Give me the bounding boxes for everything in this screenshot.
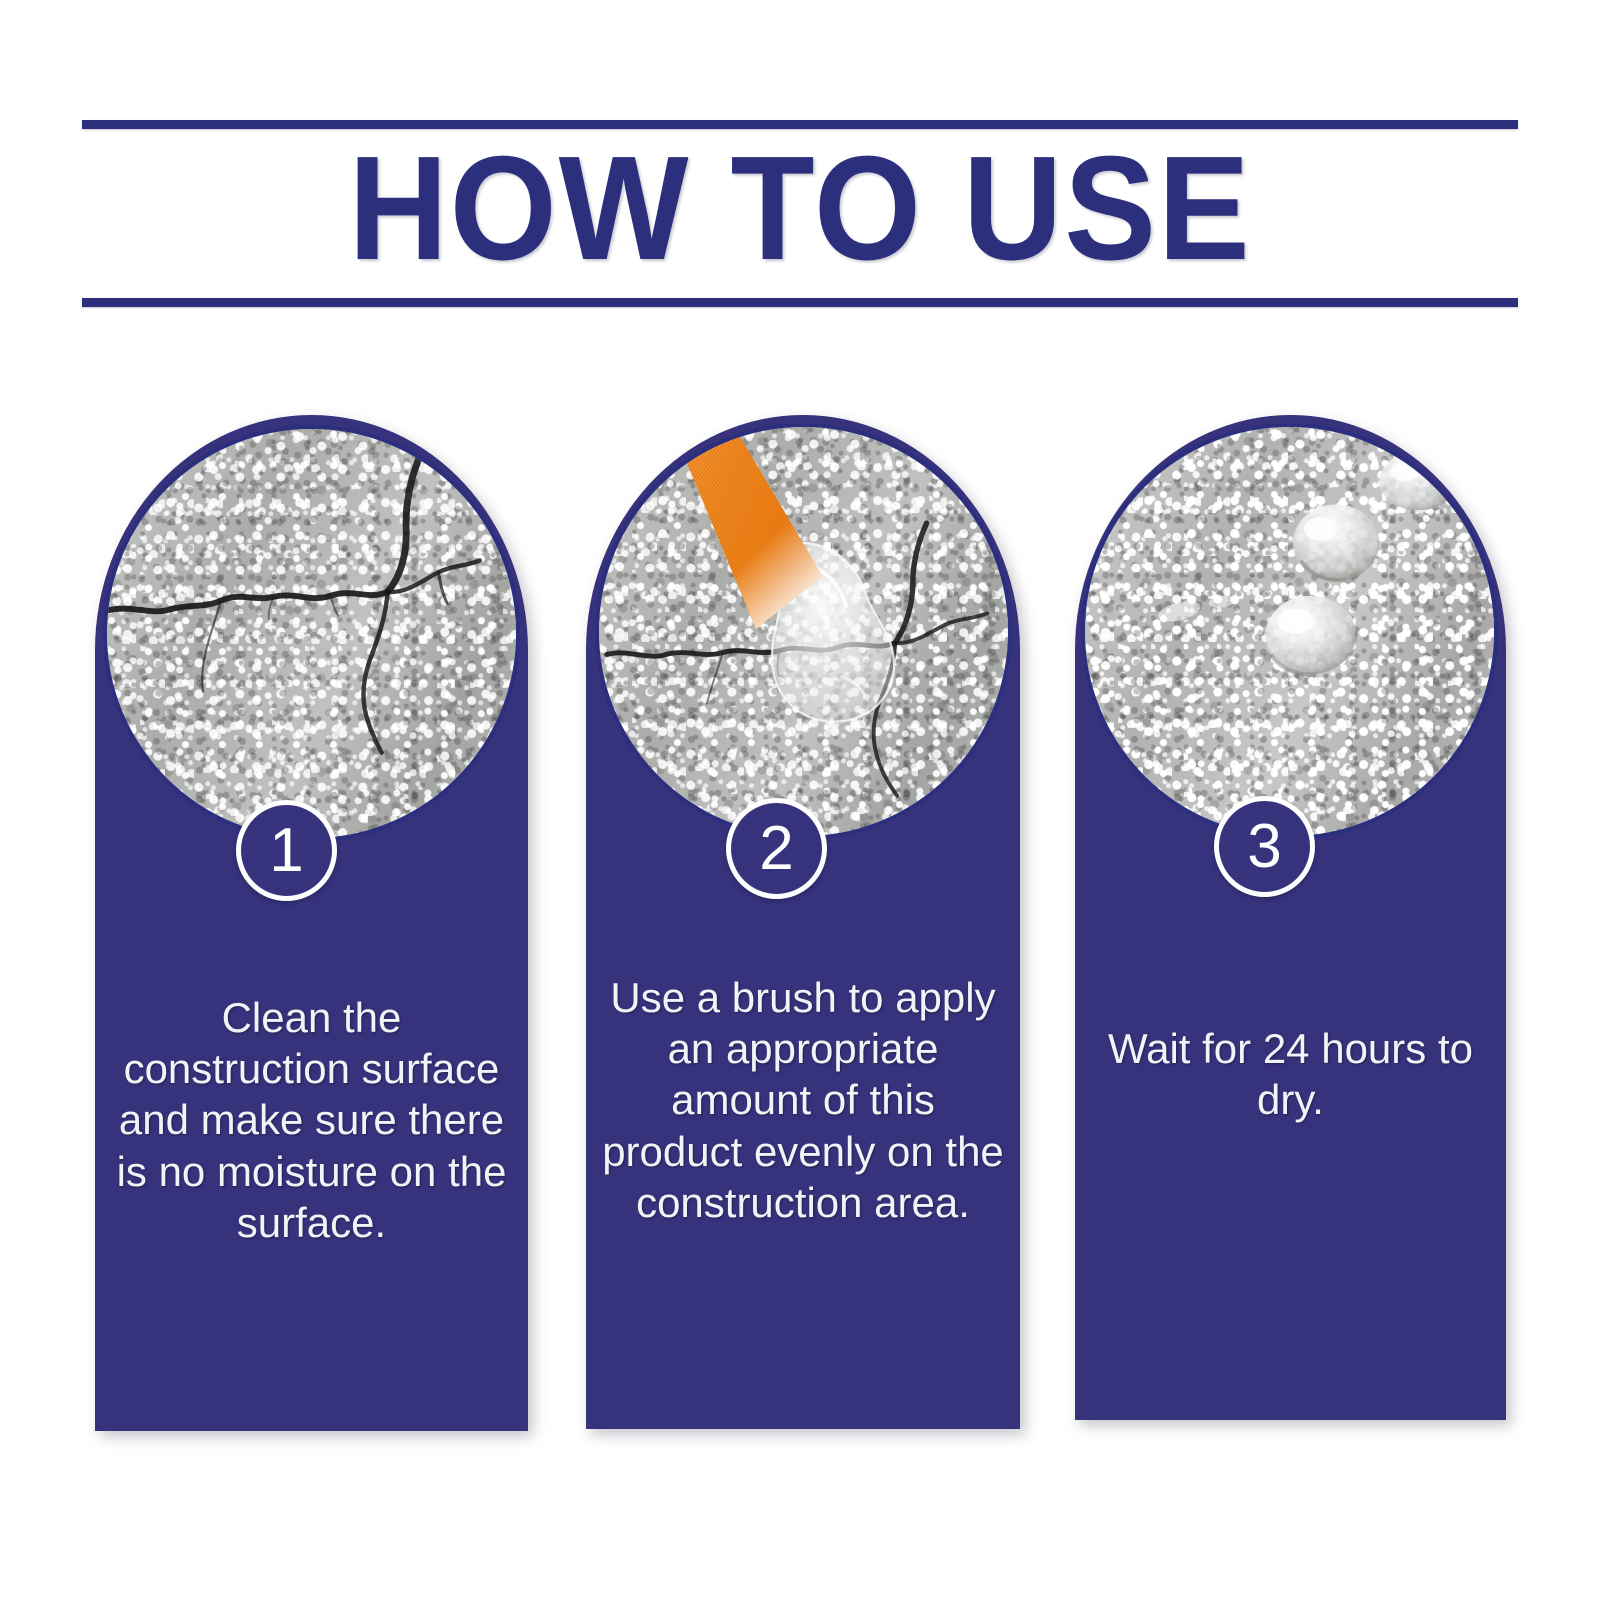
step-1-photo: [103, 425, 520, 842]
step-1-number-badge: 1: [236, 800, 337, 901]
cracked-surface-icon: [107, 429, 516, 838]
step-card-1: 1 Clean the construction surface and mak…: [95, 415, 528, 1431]
step-3-caption: Wait for 24 hours to dry.: [1075, 1023, 1506, 1125]
step-3-photo: [1081, 423, 1498, 840]
step-2-number-badge: 2: [726, 798, 827, 899]
step-card-3: 3 Wait for 24 hours to dry.: [1075, 415, 1506, 1420]
step-card-2: 2 Use a brush to apply an appropriate am…: [586, 415, 1020, 1429]
cracked-surface-icon: [599, 427, 1008, 836]
step-2-caption: Use a brush to apply an appropriate amou…: [586, 972, 1020, 1228]
step-1-caption: Clean the construction surface and make …: [95, 992, 528, 1248]
sealed-surface-texture: [1085, 427, 1494, 836]
steps-container: 1 Clean the construction surface and mak…: [0, 0, 1600, 1600]
step-2-photo: [595, 423, 1012, 840]
step-3-number-badge: 3: [1214, 796, 1315, 897]
